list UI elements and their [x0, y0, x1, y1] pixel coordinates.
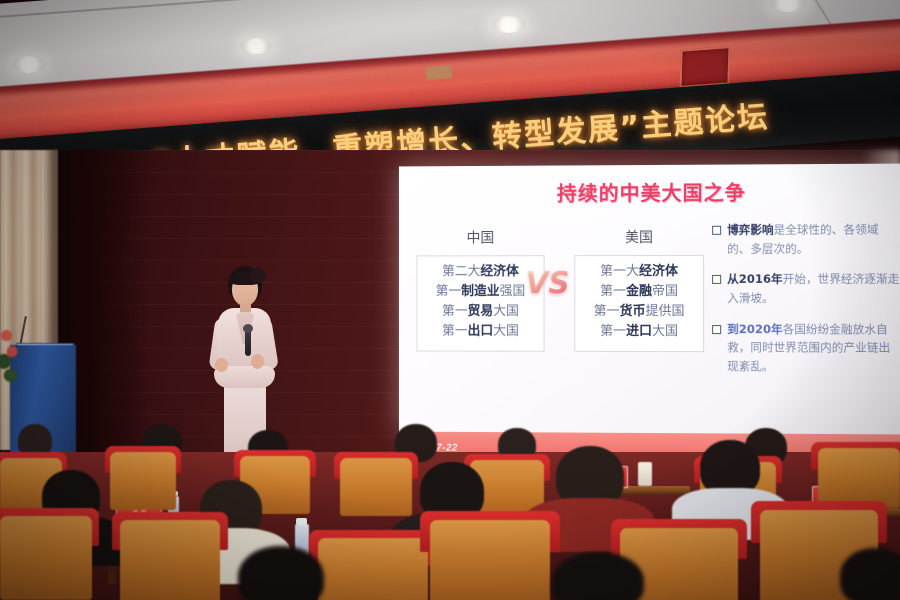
audience-chair [120, 520, 220, 600]
speaker-hand-left [215, 358, 228, 372]
audience-chair [430, 520, 550, 600]
bottle-cap [296, 518, 307, 525]
audience-chair [818, 448, 900, 508]
chair-back [430, 520, 550, 600]
list-item: 第一货币提供国 [579, 302, 699, 322]
list-item: 第一制造业强国 [421, 282, 539, 302]
speaker-hair-bun [250, 268, 266, 283]
audience-chair [340, 458, 412, 516]
list-item: 到2020年各国纷纷金融放水自救，同时世界范围内的产业链出现紊乱。 [712, 320, 900, 377]
list-item: 第一出口大国 [421, 322, 539, 342]
audience-head [840, 548, 900, 600]
list-item: 从2016年开始，世界经济逐渐走入滑坡。 [712, 270, 900, 308]
ceiling-vent-icon [680, 46, 731, 88]
square-bullet-icon [712, 226, 721, 235]
chair-back [120, 520, 220, 600]
column-header-china: 中国 [417, 227, 545, 247]
list-item: 第一贸易大国 [421, 302, 539, 322]
audience-head [552, 552, 644, 600]
list-item: 第二大经济体 [421, 262, 539, 282]
chair-back [318, 538, 428, 600]
square-bullet-icon [712, 325, 721, 334]
microphone-head-icon [243, 324, 253, 333]
list-item: 第一进口大国 [579, 322, 699, 342]
list-item: 第一金融帝国 [579, 282, 699, 302]
projected-slide: 持续的中美大国之争 中国 第二大经济体 第一制造业强国 第一贸易大国 第一出口大… [399, 164, 900, 435]
chair-back [0, 516, 92, 600]
audience-chair [318, 538, 428, 600]
audience-head [238, 546, 324, 600]
conference-photo-scene: “人才赋能、重塑增长、转型发展”主题论坛 持续的中美大国之争 中国 [0, 0, 900, 600]
downlight-icon [492, 16, 526, 33]
ceiling-speaker-icon [426, 65, 453, 80]
list-item: 第一大经济体 [579, 262, 699, 282]
column-header-usa: 美国 [574, 227, 704, 247]
downlight-icon [12, 56, 46, 73]
column-box-usa: 第一大经济体 第一金融帝国 第一货币提供国 第一进口大国 [574, 255, 704, 352]
chair-back [818, 448, 900, 508]
slide-title: 持续的中美大国之争 [399, 176, 900, 207]
speaker-hand-right [251, 354, 264, 369]
chair-back [340, 458, 412, 516]
slide-body: 中国 第二大经济体 第一制造业强国 第一贸易大国 第一出口大国 VS 美国 第一… [399, 226, 900, 428]
flower-arrangement-icon [0, 318, 22, 388]
slide-bullet-list: 博弈影响是全球性的、各领域的、多层次的。 从2016年开始，世界经济逐渐走入滑坡… [712, 220, 900, 388]
list-item: 博弈影响是全球性的、各领域的、多层次的。 [712, 220, 900, 258]
paper-cup [638, 462, 652, 486]
square-bullet-icon [712, 275, 721, 284]
versus-graphic: VS [528, 263, 568, 303]
chair-back [110, 452, 176, 510]
slide-column-usa: 美国 第一大经济体 第一金融帝国 第一货币提供国 第一进口大国 [574, 227, 704, 352]
audience-chair [0, 516, 92, 600]
downlight-icon [240, 38, 272, 54]
audience-chair [110, 452, 176, 510]
